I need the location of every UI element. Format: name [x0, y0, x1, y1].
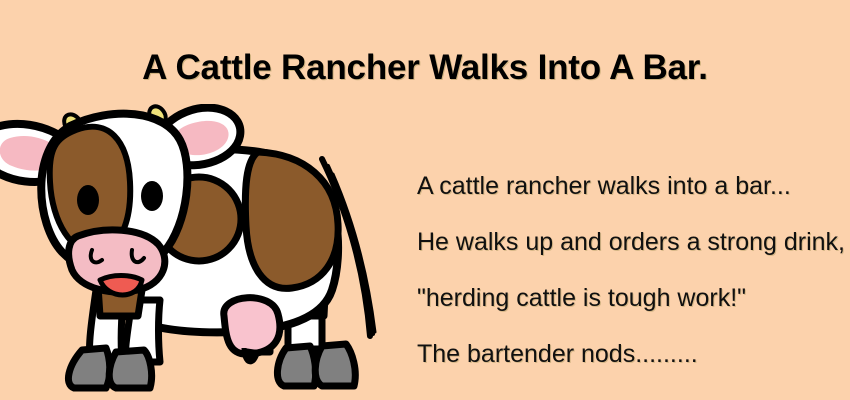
cow-muzzle: [69, 230, 165, 295]
joke-line-4: The bartender nods.........: [417, 326, 837, 382]
cow-rump-patch: [245, 152, 338, 288]
joke-text-block: A cattle rancher walks into a bar... He …: [417, 158, 837, 382]
page-title: A Cattle Rancher Walks Into A Bar.: [0, 48, 850, 88]
cartoon-cow-illustration: [0, 104, 412, 400]
joke-line-3: "herding cattle is tough work!": [417, 270, 837, 326]
joke-line-1: A cattle rancher walks into a bar...: [417, 158, 837, 214]
cow-tongue: [100, 276, 142, 296]
joke-card: A Cattle Rancher Walks Into A Bar.: [0, 0, 850, 400]
cow-right-eye: [141, 181, 163, 211]
cow-left-eye: [77, 185, 99, 215]
cow-graphic: [0, 106, 375, 388]
joke-line-2: He walks up and orders a strong drink,: [417, 214, 837, 270]
cow-svg: [0, 104, 412, 400]
